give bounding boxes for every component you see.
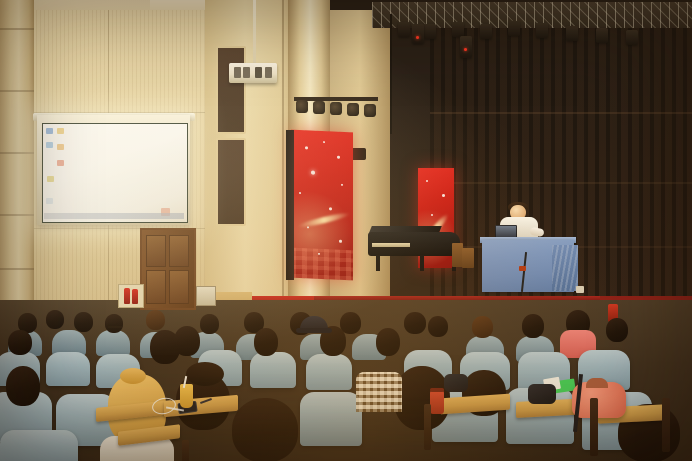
stage-light — [596, 28, 608, 43]
stage-light — [398, 22, 410, 37]
hair-bun — [186, 362, 224, 386]
stage-light — [460, 36, 472, 58]
audience-head — [232, 398, 298, 461]
laptop-screen — [496, 226, 516, 237]
curtain-seam — [430, 112, 692, 114]
black-bag — [528, 384, 556, 404]
stage-light — [424, 24, 436, 39]
audience-head — [174, 326, 200, 356]
thermos — [430, 390, 444, 414]
stage-chair — [462, 248, 474, 268]
projection-screen — [42, 123, 188, 223]
projector-mount-pole — [253, 0, 256, 68]
par-lamp — [347, 103, 359, 116]
led-banner-large — [291, 130, 353, 281]
stage-light — [536, 23, 548, 38]
door-panel — [146, 235, 166, 267]
audience-head — [146, 310, 165, 330]
audience-head — [6, 366, 40, 406]
desktop-icon — [46, 198, 53, 204]
par-lamp — [364, 104, 376, 117]
armrest — [662, 398, 670, 452]
desktop-icon — [46, 142, 53, 148]
thermos-lid — [430, 388, 444, 392]
stage-light — [508, 21, 520, 36]
wall-seam — [282, 0, 284, 300]
fire-extinguisher — [124, 288, 130, 304]
audience-head — [522, 314, 544, 338]
par-lamp — [296, 100, 308, 113]
piano-leg — [376, 255, 380, 271]
extinguisher-cabinet — [118, 284, 144, 308]
screen-taskbar — [44, 213, 184, 219]
desktop-icon — [47, 176, 54, 182]
armrest — [424, 404, 431, 450]
curtain-seam — [430, 182, 692, 184]
audience-head — [46, 310, 64, 329]
hair-bun — [120, 368, 146, 384]
column-band — [0, 28, 34, 30]
banner-frame-edge — [286, 130, 294, 280]
side-door — [140, 228, 196, 310]
par-lamp — [330, 102, 342, 115]
door-panel — [169, 235, 189, 267]
floor-object — [576, 286, 584, 293]
column-band — [0, 90, 34, 92]
piano-leg — [420, 255, 424, 271]
acoustic-panel — [216, 138, 246, 226]
table-drape-side — [552, 245, 578, 291]
stage-light — [412, 24, 424, 44]
stage-light — [480, 24, 492, 39]
stage-light — [566, 26, 578, 41]
audience-head — [472, 316, 493, 338]
black-bag — [444, 374, 468, 392]
audience-head — [200, 314, 219, 334]
hanging-cable — [390, 14, 392, 134]
column-band — [0, 268, 34, 270]
column-band — [0, 152, 34, 154]
door-panel — [146, 270, 166, 304]
wall-sign — [196, 286, 216, 306]
armrest — [182, 440, 189, 461]
projector — [229, 63, 277, 83]
desktop-icon — [57, 160, 64, 166]
armrest — [590, 398, 598, 456]
par-lamp — [313, 101, 325, 114]
desktop-icon — [46, 128, 53, 134]
backpack-handle — [586, 378, 608, 388]
door-panel — [169, 270, 189, 304]
piano-keys — [372, 243, 410, 247]
seat — [250, 352, 296, 388]
stage-light — [452, 22, 464, 37]
audience-head — [74, 312, 93, 332]
stage-light — [626, 30, 638, 45]
desktop-icon — [57, 144, 64, 150]
fire-extinguisher — [132, 289, 138, 304]
cap-brim — [296, 328, 332, 333]
audience-head — [8, 330, 32, 355]
audience-head — [254, 328, 278, 356]
audience-head — [404, 312, 426, 334]
audience-head — [428, 316, 448, 337]
seat — [306, 354, 352, 390]
auditorium-photo — [0, 0, 692, 461]
desktop-icon — [57, 128, 64, 134]
audience-head — [606, 318, 628, 342]
column-band — [0, 214, 34, 216]
seat — [0, 430, 78, 461]
cable-clip — [519, 266, 526, 271]
audience-head — [376, 328, 400, 356]
seat — [46, 352, 90, 386]
eyeglasses — [108, 326, 122, 331]
seat — [96, 330, 130, 356]
acoustic-panel — [216, 46, 246, 134]
audience-shoulders — [356, 372, 402, 412]
seat — [300, 392, 362, 446]
